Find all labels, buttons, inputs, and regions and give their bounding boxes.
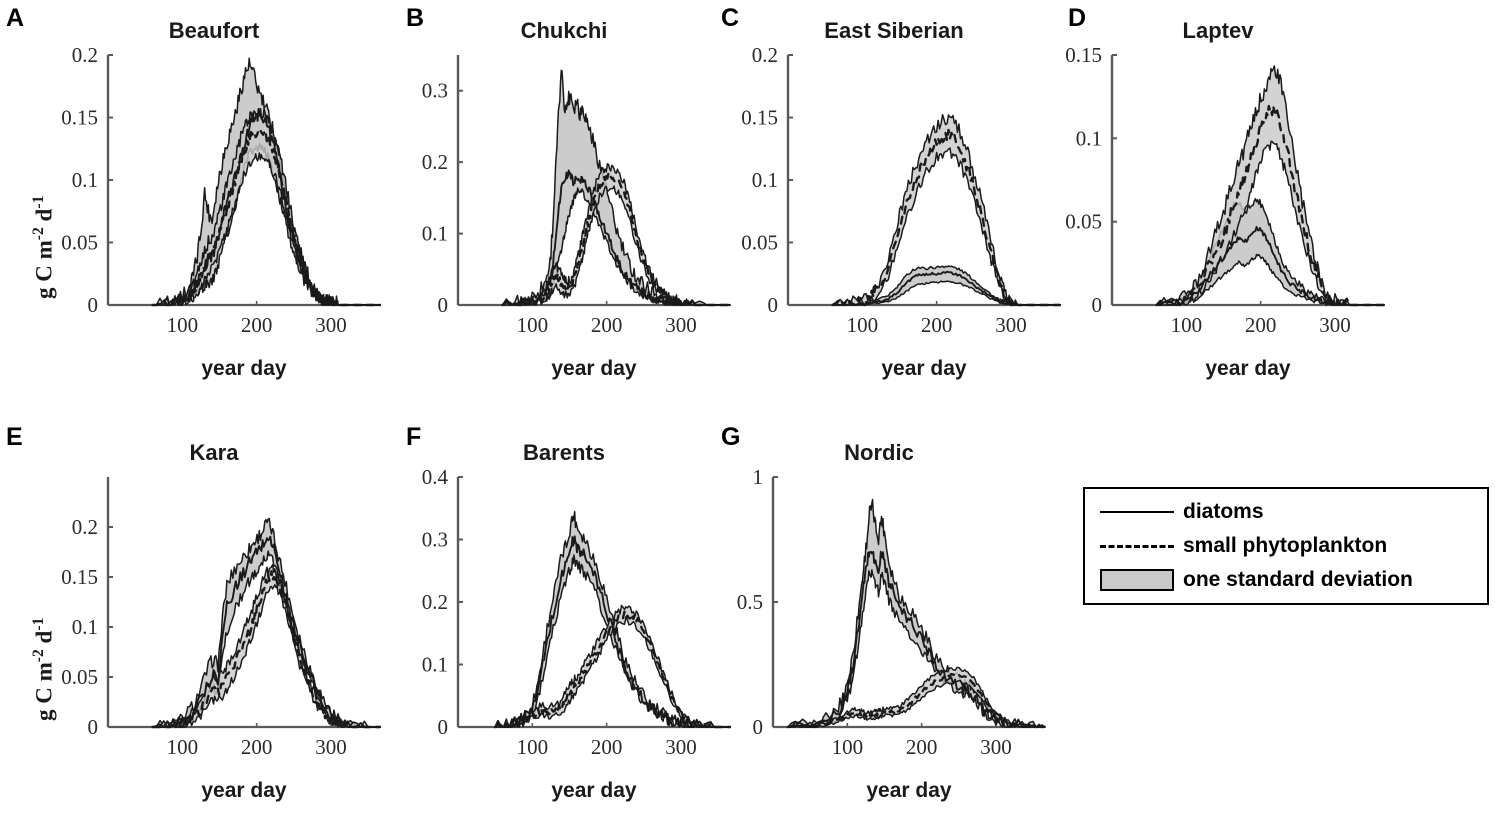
plot-kara: 00.050.10.150.2100200300 bbox=[38, 463, 394, 761]
plot-chukchi: 00.10.20.3100200300 bbox=[388, 41, 744, 339]
svg-text:0: 0 bbox=[768, 293, 779, 317]
legend-box: diatoms small phytoplankton one standard… bbox=[1083, 487, 1489, 605]
panel-east-siberian: CEast Siberianyear day00.050.10.150.2100… bbox=[715, 0, 1035, 403]
x-axis-label-barents: year day bbox=[458, 779, 730, 803]
svg-text:0.15: 0.15 bbox=[61, 565, 98, 589]
svg-text:0.2: 0.2 bbox=[72, 515, 98, 539]
x-axis-label-laptev: year day bbox=[1112, 357, 1384, 381]
svg-text:300: 300 bbox=[315, 313, 347, 337]
svg-text:0.1: 0.1 bbox=[1076, 126, 1102, 150]
panel-title-laptev: Laptev bbox=[1052, 20, 1384, 42]
svg-text:0.1: 0.1 bbox=[422, 653, 448, 677]
plot-east-siberian: 00.050.10.150.2100200300 bbox=[718, 41, 1074, 339]
svg-text:200: 200 bbox=[241, 313, 273, 337]
svg-text:100: 100 bbox=[1171, 313, 1203, 337]
svg-text:300: 300 bbox=[980, 735, 1012, 759]
svg-text:0.2: 0.2 bbox=[72, 43, 98, 67]
plot-nordic: 00.51100200300 bbox=[703, 463, 1059, 761]
svg-text:300: 300 bbox=[995, 313, 1027, 337]
svg-text:0.3: 0.3 bbox=[422, 528, 448, 552]
svg-text:200: 200 bbox=[1245, 313, 1277, 337]
svg-text:0.05: 0.05 bbox=[741, 231, 778, 255]
svg-text:0: 0 bbox=[753, 715, 764, 739]
svg-text:0.1: 0.1 bbox=[72, 168, 98, 192]
panel-letter-a: A bbox=[6, 6, 24, 31]
std-band-laptev-diatoms bbox=[1157, 199, 1384, 305]
panel-letter-e: E bbox=[6, 425, 23, 450]
legend-label-standard-deviation: one standard deviation bbox=[1183, 568, 1413, 592]
svg-text:100: 100 bbox=[832, 735, 864, 759]
svg-text:100: 100 bbox=[847, 313, 879, 337]
legend-row-diatoms: diatoms bbox=[1091, 495, 1487, 529]
svg-text:300: 300 bbox=[665, 313, 697, 337]
svg-text:0.15: 0.15 bbox=[1065, 43, 1102, 67]
svg-text:0.05: 0.05 bbox=[61, 665, 98, 689]
svg-text:0: 0 bbox=[438, 293, 449, 317]
svg-text:0.05: 0.05 bbox=[1065, 210, 1102, 234]
panel-kara: EKarag C m-2 d-1year day00.050.10.150.21… bbox=[0, 415, 400, 818]
std-band-kara-small-phytoplankton bbox=[153, 565, 380, 727]
panel-title-kara: Kara bbox=[48, 442, 380, 464]
legend-key-dashed-line bbox=[1091, 545, 1183, 548]
std-band-beaufort-diatoms bbox=[153, 58, 380, 305]
series-line-kara-diatoms bbox=[153, 537, 380, 727]
panel-chukchi: BChukchiyear day00.10.20.3100200300 bbox=[400, 0, 720, 403]
panel-title-barents: Barents bbox=[398, 442, 730, 464]
svg-text:0.2: 0.2 bbox=[422, 590, 448, 614]
svg-text:100: 100 bbox=[517, 313, 549, 337]
svg-text:0.5: 0.5 bbox=[737, 590, 763, 614]
svg-text:200: 200 bbox=[241, 735, 273, 759]
x-axis-label-nordic: year day bbox=[773, 779, 1045, 803]
std-band-kara-diatoms bbox=[153, 519, 380, 727]
svg-text:300: 300 bbox=[315, 735, 347, 759]
svg-text:0.2: 0.2 bbox=[422, 150, 448, 174]
svg-text:0.05: 0.05 bbox=[61, 231, 98, 255]
plot-laptev: 00.050.10.15100200300 bbox=[1042, 41, 1398, 339]
svg-text:0.15: 0.15 bbox=[741, 106, 778, 130]
x-axis-label-east-siberian: year day bbox=[788, 357, 1060, 381]
legend-key-solid-line bbox=[1091, 511, 1183, 513]
panel-title-nordic: Nordic bbox=[713, 442, 1045, 464]
svg-text:1: 1 bbox=[753, 465, 764, 489]
panel-beaufort: ABeaufortg C m-2 d-1year day00.050.10.15… bbox=[0, 0, 400, 403]
panel-laptev: DLaptevyear day00.050.10.15100200300 bbox=[1030, 0, 1350, 403]
svg-text:100: 100 bbox=[167, 313, 199, 337]
legend-label-diatoms: diatoms bbox=[1183, 500, 1264, 524]
svg-text:200: 200 bbox=[906, 735, 938, 759]
svg-text:0.15: 0.15 bbox=[61, 106, 98, 130]
svg-text:0: 0 bbox=[1092, 293, 1103, 317]
svg-text:300: 300 bbox=[1319, 313, 1351, 337]
legend-row-small-phytoplankton: small phytoplankton bbox=[1091, 529, 1487, 563]
panel-title-chukchi: Chukchi bbox=[398, 20, 730, 42]
figure-root: ABeaufortg C m-2 d-1year day00.050.10.15… bbox=[0, 0, 1495, 818]
svg-text:0.1: 0.1 bbox=[752, 168, 778, 192]
svg-text:0.1: 0.1 bbox=[72, 615, 98, 639]
svg-text:200: 200 bbox=[591, 313, 623, 337]
svg-text:0.4: 0.4 bbox=[422, 465, 449, 489]
x-axis-label-chukchi: year day bbox=[458, 357, 730, 381]
svg-text:100: 100 bbox=[167, 735, 199, 759]
svg-text:0.3: 0.3 bbox=[422, 79, 448, 103]
plot-barents: 00.10.20.30.4100200300 bbox=[388, 463, 744, 761]
legend-row-standard-deviation: one standard deviation bbox=[1091, 563, 1487, 597]
x-axis-label-beaufort: year day bbox=[108, 357, 380, 381]
panel-title-beaufort: Beaufort bbox=[48, 20, 380, 42]
svg-text:0: 0 bbox=[88, 293, 99, 317]
series-line-kara-small-phytoplankton bbox=[153, 571, 380, 727]
svg-text:200: 200 bbox=[921, 313, 953, 337]
x-axis-label-kara: year day bbox=[108, 779, 380, 803]
legend-label-small-phytoplankton: small phytoplankton bbox=[1183, 534, 1387, 558]
svg-text:0.2: 0.2 bbox=[752, 43, 778, 67]
svg-text:100: 100 bbox=[517, 735, 549, 759]
legend-key-gray-patch bbox=[1091, 569, 1183, 591]
svg-text:0.1: 0.1 bbox=[422, 222, 448, 246]
plot-beaufort: 00.050.10.150.2100200300 bbox=[38, 41, 394, 339]
svg-text:200: 200 bbox=[591, 735, 623, 759]
panel-barents: FBarentsyear day00.10.20.30.4100200300 bbox=[400, 415, 720, 818]
svg-text:0: 0 bbox=[438, 715, 449, 739]
svg-text:300: 300 bbox=[665, 735, 697, 759]
panel-nordic: GNordicyear day00.51100200300 bbox=[715, 415, 1035, 818]
svg-text:0: 0 bbox=[88, 715, 99, 739]
panel-title-east-siberian: East Siberian bbox=[728, 20, 1060, 42]
